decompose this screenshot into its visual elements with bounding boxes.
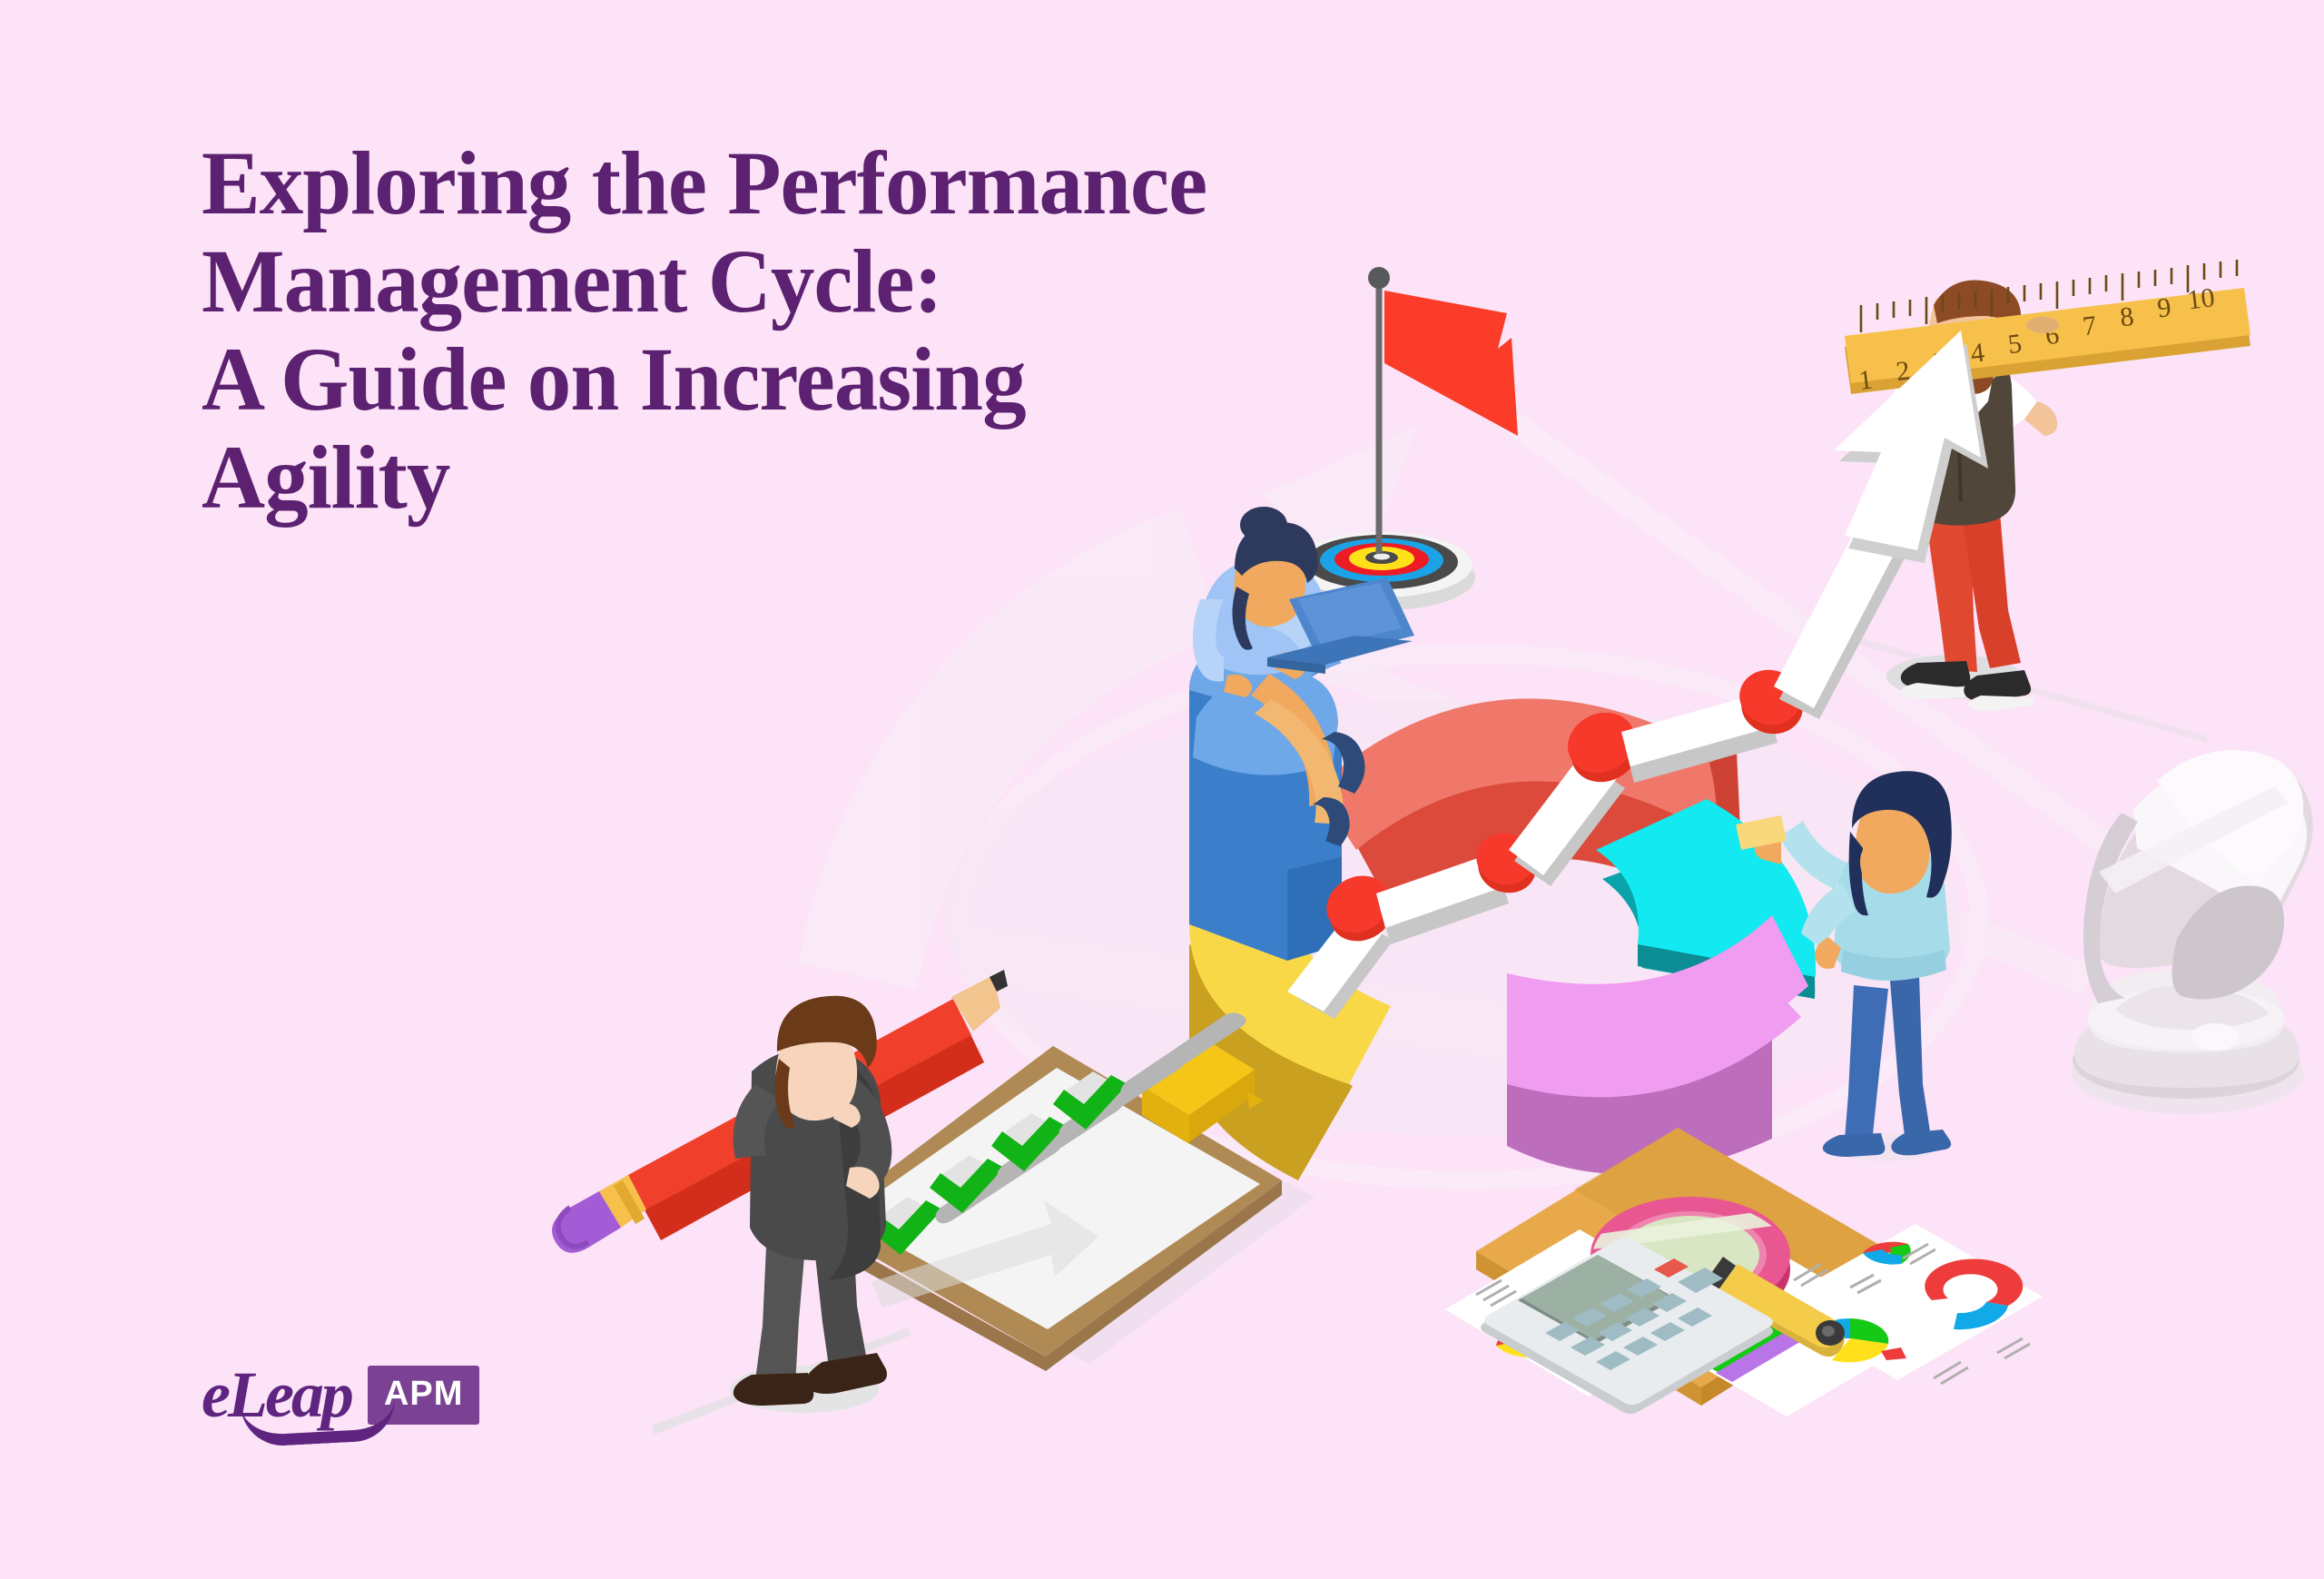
svg-text:10: 10 xyxy=(2186,282,2217,315)
eleap-apm-logo[interactable]: eLeap APM xyxy=(202,1362,479,1433)
poster-canvas: 123 456 789 10 xyxy=(0,0,2324,1579)
performance-management-illustration: 123 456 789 10 xyxy=(0,0,2324,1579)
eleap-wordmark: eLeap xyxy=(202,1362,351,1433)
